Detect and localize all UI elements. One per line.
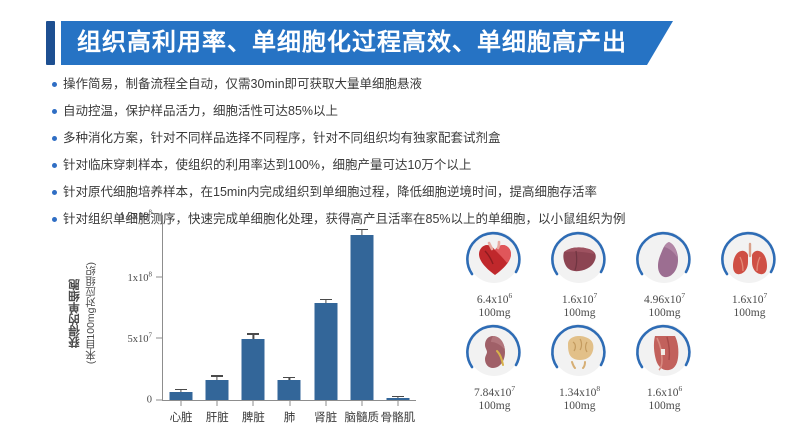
error-bar: [325, 300, 326, 303]
brain-icon: [560, 332, 600, 372]
section-banner: 组织高利用率、单细胞化过程高效、单细胞高产出: [46, 21, 673, 65]
y-axis-title-sub: (来自100mg对应组织): [83, 262, 98, 364]
error-bar-cap: [320, 299, 332, 300]
error-bar: [180, 390, 181, 392]
heart-icon: [475, 239, 515, 279]
x-tick-mark: [217, 401, 218, 406]
bullet-item: 多种消化方案，针对不同样品选择不同程序，针对不同组织均有独家配套试剂盒: [52, 128, 752, 150]
organ-mass-label: 100mg: [649, 399, 681, 414]
x-tick-label: 脾脏: [242, 409, 265, 425]
error-bar-cap: [283, 377, 295, 378]
bar-group: [235, 215, 271, 400]
organ-mass-label: 100mg: [479, 306, 511, 321]
bar-group: [163, 215, 199, 400]
bullet-text: 自动控温，保护样品活力，细胞活性可达85%以上: [63, 101, 338, 121]
bullet-item: 操作简易，制备流程全自动，仅需30min即可获取大量单细胞悬液: [52, 74, 752, 96]
lung-icon: [730, 239, 770, 279]
error-bar: [397, 397, 398, 398]
error-bar: [253, 335, 254, 339]
x-tick-mark: [325, 401, 326, 406]
x-tick-mark: [181, 401, 182, 406]
chart-bar: [170, 392, 193, 400]
y-axis-title-main: 获得的单细胞: [67, 279, 83, 348]
organ-card-brain: 1.34x108100mg: [537, 321, 622, 414]
y-tick-label: 1x108: [128, 270, 153, 284]
x-tick-label: 心脏: [170, 409, 193, 425]
y-tick-label: 0: [147, 395, 152, 406]
organ-mass-label: 100mg: [734, 306, 766, 321]
error-bar: [361, 230, 362, 235]
x-tick-label: 骨骼肌: [381, 409, 416, 425]
chart-bar: [386, 398, 409, 400]
y-axis-title: 获得的单细胞 (来自100mg对应组织): [56, 213, 108, 413]
bullet-text: 针对原代细胞培养样本，在15min内完成组织到单细胞过程，降低细胞逆境时间，提高…: [63, 182, 597, 202]
organ-card-spleen: 4.96x107100mg: [622, 228, 707, 321]
x-tick-mark: [253, 401, 254, 406]
organ-card-muscle: 1.6x106100mg: [622, 321, 707, 414]
bullet-item: 自动控温，保护样品活力，细胞活性可达85%以上: [52, 101, 752, 123]
x-tick-label: 肺: [284, 409, 296, 425]
x-tick-label: 肝脏: [206, 409, 229, 425]
bar-chart: 获得的单细胞 (来自100mg对应组织) 05x1071x1081.5x108 …: [56, 213, 436, 441]
bullet-text: 操作简易，制备流程全自动，仅需30min即可获取大量单细胞悬液: [63, 74, 422, 94]
y-axis-ticks: 05x1071x1081.5x108: [104, 215, 156, 401]
banner-body: 组织高利用率、单细胞化过程高效、单细胞高产出: [61, 21, 673, 65]
organ-card-liver: 1.6x107100mg: [537, 228, 622, 321]
muscle-icon: [645, 332, 685, 372]
chart-bar: [206, 380, 229, 400]
organ-yield-value: 4.96x107: [644, 291, 685, 306]
organ-badge: [464, 228, 526, 290]
y-tick-label: 1.5x108: [120, 208, 152, 222]
organ-yield-value: 1.6x107: [562, 291, 597, 306]
organ-card-lung: 1.6x107100mg: [707, 228, 792, 321]
chart-bar: [242, 339, 265, 400]
chart-bar: [350, 235, 373, 400]
organ-badge: [464, 321, 526, 383]
x-tick-label: 脑髓质: [345, 409, 380, 425]
bullet-dot-icon: [52, 82, 57, 87]
bullet-text: 针对临床穿刺样本，使组织的利用率达到100%，细胞产量可达10万个以上: [63, 155, 471, 175]
error-bar-cap: [247, 333, 259, 334]
liver-icon: [560, 239, 600, 279]
plot-area: 05x1071x1081.5x108 心脏肝脏脾脏肺肾脏脑髓质骨骼肌: [104, 215, 424, 441]
x-tick-mark: [361, 401, 362, 406]
plot-canvas: [163, 215, 416, 400]
kidney-icon: [475, 332, 515, 372]
bullet-item: 针对临床穿刺样本，使组织的利用率达到100%，细胞产量可达10万个以上: [52, 155, 752, 177]
bullet-dot-icon: [52, 190, 57, 195]
organ-badge: [549, 228, 611, 290]
organ-yield-grid: 6.4x106100mg1.6x107100mg4.96x107100mg1.6…: [452, 228, 792, 414]
error-bar: [217, 377, 218, 381]
organ-card-heart: 6.4x106100mg: [452, 228, 537, 321]
error-bar-cap: [175, 389, 187, 390]
organ-yield-value: 6.4x106: [477, 291, 512, 306]
error-bar-cap: [211, 375, 223, 376]
organ-badge: [634, 228, 696, 290]
spleen-icon: [645, 239, 685, 279]
bar-group: [344, 215, 380, 400]
organ-yield-value: 7.84x107: [474, 384, 515, 399]
organ-badge: [719, 228, 781, 290]
bullet-item: 针对原代细胞培养样本，在15min内完成组织到单细胞过程，降低细胞逆境时间，提高…: [52, 182, 752, 204]
feature-bullet-list: 操作简易，制备流程全自动，仅需30min即可获取大量单细胞悬液自动控温，保护样品…: [52, 74, 752, 236]
bar-group: [271, 215, 307, 400]
bullet-text: 多种消化方案，针对不同样品选择不同程序，针对不同组织均有独家配套试剂盒: [63, 128, 501, 148]
bullet-dot-icon: [52, 163, 57, 168]
organ-row: 6.4x106100mg1.6x107100mg4.96x107100mg1.6…: [452, 228, 792, 321]
organ-mass-label: 100mg: [479, 399, 511, 414]
error-bar-cap: [356, 229, 368, 230]
organ-row: 7.84x107100mg1.34x108100mg1.6x106100mg: [452, 321, 792, 414]
organ-yield-value: 1.6x106: [647, 384, 682, 399]
organ-yield-value: 1.6x107: [732, 291, 767, 306]
organ-badge: [634, 321, 696, 383]
organ-mass-label: 100mg: [564, 399, 596, 414]
bullet-dot-icon: [52, 136, 57, 141]
chart-bar: [278, 380, 301, 400]
chart-bar: [314, 303, 337, 400]
x-tick-label: 肾脏: [314, 409, 337, 425]
bar-group: [380, 215, 416, 400]
error-bar-cap: [392, 396, 404, 397]
x-tick-mark: [397, 401, 398, 406]
error-bar: [289, 378, 290, 380]
page-title: 组织高利用率、单细胞化过程高效、单细胞高产出: [77, 31, 627, 55]
organ-mass-label: 100mg: [649, 306, 681, 321]
organ-yield-value: 1.34x108: [559, 384, 600, 399]
y-tick-label: 5x107: [128, 332, 153, 346]
bar-group: [308, 215, 344, 400]
organ-mass-label: 100mg: [564, 306, 596, 321]
organ-badge: [549, 321, 611, 383]
x-tick-mark: [289, 401, 290, 406]
bar-group: [199, 215, 235, 400]
organ-card-kidney: 7.84x107100mg: [452, 321, 537, 414]
bullet-dot-icon: [52, 109, 57, 114]
banner-accent-bar: [46, 21, 55, 65]
